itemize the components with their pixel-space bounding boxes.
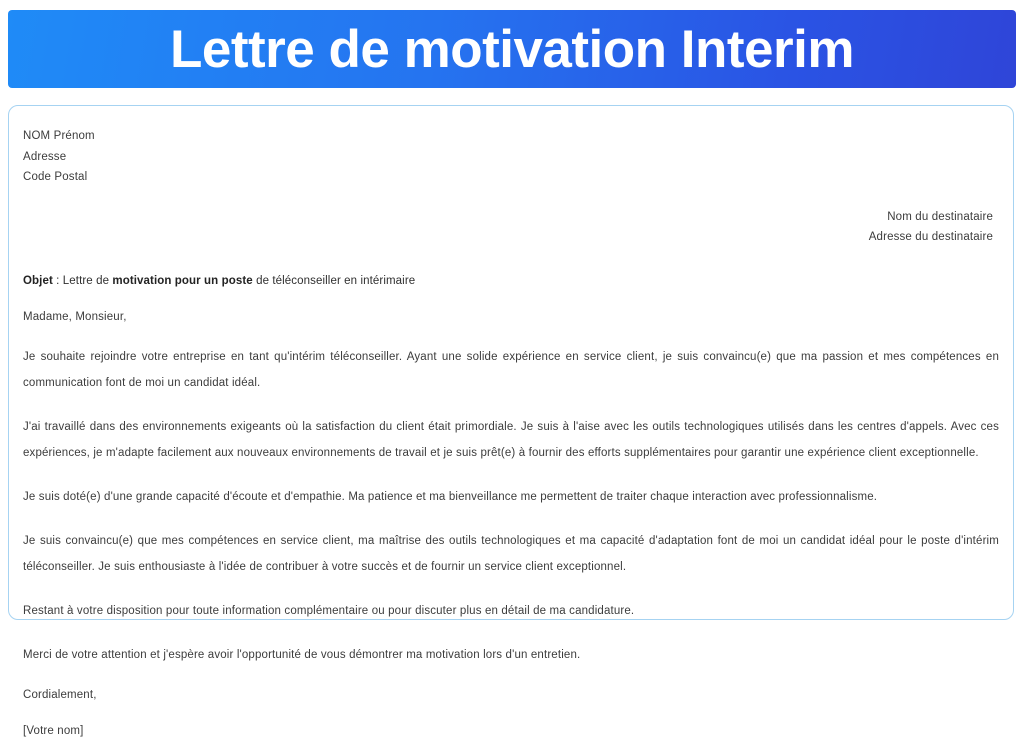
recipient-address: Adresse du destinataire <box>21 227 993 248</box>
salutation: Madame, Monsieur, <box>23 308 1001 326</box>
subject-text-bold: motivation pour un poste <box>112 275 252 287</box>
subject-text-after: de téléconseiller en intérimaire <box>253 275 415 287</box>
body-paragraph: Je souhaite rejoindre votre entreprise e… <box>23 344 999 396</box>
sender-postal-code: Code Postal <box>23 167 1001 188</box>
closing-line: Cordialement, <box>23 686 1001 704</box>
signature-placeholder: [Votre nom] <box>23 722 1001 740</box>
body-paragraph: J'ai travaillé dans des environnements e… <box>23 414 999 466</box>
recipient-name: Nom du destinataire <box>21 207 993 228</box>
body-paragraph: Restant à votre disposition pour toute i… <box>23 598 999 624</box>
body-paragraph: Je suis doté(e) d'une grande capacité d'… <box>23 484 999 510</box>
body-paragraph: Merci de votre attention et j'espère avo… <box>23 642 999 668</box>
sender-name: NOM Prénom <box>23 126 1001 147</box>
body-paragraph: Je suis convaincu(e) que mes compétences… <box>23 528 999 580</box>
subject-text-before: Lettre de <box>63 275 113 287</box>
sender-address-block: NOM Prénom Adresse Code Postal <box>23 126 1001 188</box>
letter-card: NOM Prénom Adresse Code Postal Nom du de… <box>8 105 1014 620</box>
recipient-address-block: Nom du destinataire Adresse du destinata… <box>21 207 1001 248</box>
page-root: Lettre de motivation Interim NOM Prénom … <box>0 0 1024 629</box>
subject-label: Objet <box>23 275 53 287</box>
subject-separator: : <box>53 275 63 287</box>
page-title: Lettre de motivation Interim <box>170 23 854 76</box>
header-banner: Lettre de motivation Interim <box>8 10 1016 88</box>
sender-address: Adresse <box>23 147 1001 168</box>
subject-line: Objet : Lettre de motivation pour un pos… <box>23 272 1001 290</box>
